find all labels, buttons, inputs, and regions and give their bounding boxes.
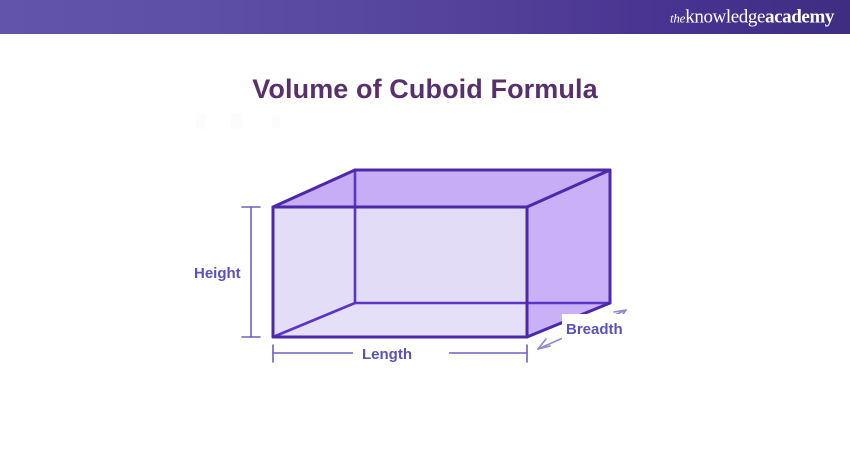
artifact-mark (272, 114, 280, 128)
page-title: Volume of Cuboid Formula (0, 74, 850, 105)
cuboid-figure: Height Length (190, 150, 670, 380)
cuboid-face-front (273, 207, 527, 337)
brand-logo[interactable]: theknowledgeacademy (670, 8, 834, 27)
cuboid-svg: Height Length (190, 150, 670, 380)
dimension-label-breadth: Breadth (566, 321, 623, 338)
dimension-label-length: Length (362, 346, 412, 363)
page-root: theknowledgeacademy Volume of Cuboid For… (0, 0, 850, 450)
dimension-height: Height (190, 207, 260, 337)
dimension-label-height: Height (194, 265, 241, 282)
header-bar: theknowledgeacademy (0, 0, 850, 34)
logo-text-knowledge: knowledge (685, 7, 765, 28)
logo-text-the: the (670, 11, 685, 26)
dimension-length: Length (273, 340, 527, 366)
logo-text-academy: academy (765, 7, 834, 28)
artifact-mark (231, 113, 242, 129)
artifact-mark (196, 113, 206, 129)
